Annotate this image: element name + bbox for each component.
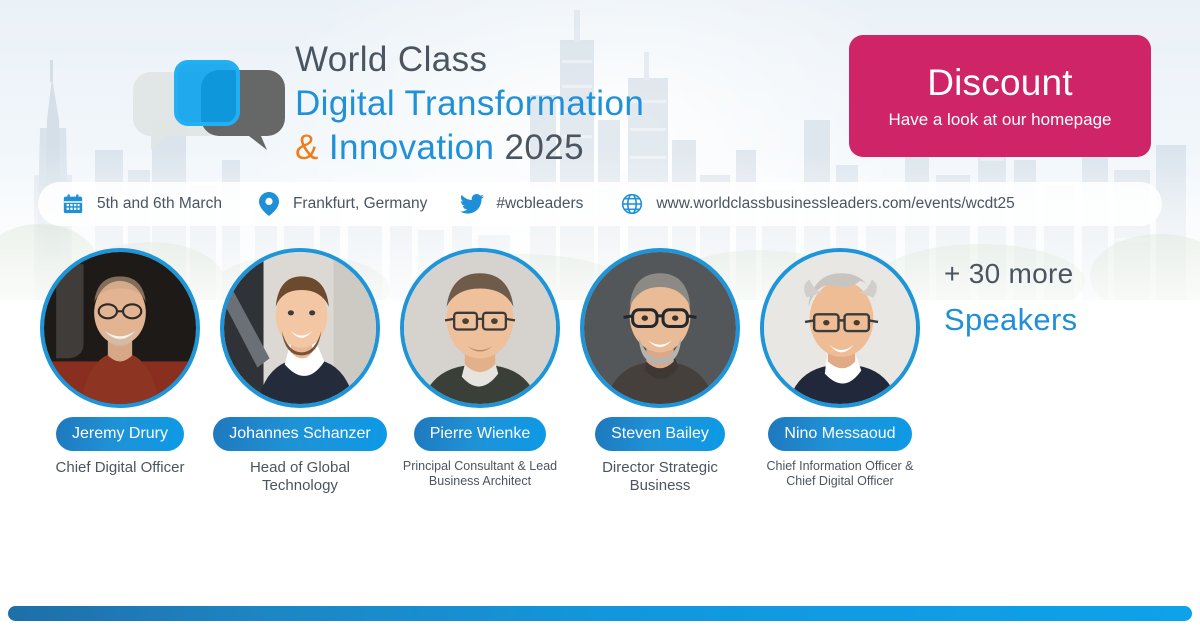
title-year: 2025 [505, 128, 584, 167]
sponsor-logos-row: IKEA GORILLA SPORTS GROUP DEUTSCHLAND [0, 508, 1200, 598]
speaker-photo [580, 248, 740, 408]
info-website-text: www.worldclassbusinessleaders.com/events… [656, 195, 1014, 213]
speaker-role: Chief Digital Officer [56, 459, 185, 477]
speaker-name-badge: Nino Messaoud [768, 417, 911, 451]
speaker-name-badge: Jeremy Drury [56, 417, 184, 451]
speaker-photo [400, 248, 560, 408]
speaker-role: Head of GlobalTechnology [250, 459, 350, 496]
speaker-card[interactable]: Nino Messaoud Chief Information Officer … [750, 248, 930, 496]
speaker-card[interactable]: Johannes Schanzer Head of GlobalTechnolo… [210, 248, 390, 496]
title-ampersand: & [295, 128, 319, 167]
map-pin-icon [256, 191, 282, 217]
info-item-date: 5th and 6th March [60, 182, 222, 226]
speakers-row: Jeremy Drury Chief Digital Officer [30, 248, 930, 496]
title-innovation: Innovation [329, 128, 495, 167]
event-title: World Class Digital Transformation & Inn… [295, 42, 855, 165]
title-line-2: Digital Transformation [295, 86, 855, 121]
more-speakers-count: + 30 more [944, 258, 1077, 290]
event-promo-poster: World Class Digital Transformation & Inn… [0, 0, 1200, 628]
speaker-role: Chief Information Officer &Chief Digital… [766, 459, 913, 489]
speaker-name-badge: Steven Bailey [595, 417, 725, 451]
globe-icon [619, 191, 645, 217]
speaker-card[interactable]: Jeremy Drury Chief Digital Officer [30, 248, 210, 496]
discount-title: Discount [927, 62, 1073, 104]
speaker-role: Director StrategicBusiness [602, 459, 718, 496]
info-date-text: 5th and 6th March [97, 195, 222, 213]
speaker-photo [760, 248, 920, 408]
info-hashtag-text: #wcbleaders [496, 195, 583, 213]
more-speakers-label: Speakers [944, 302, 1077, 338]
info-item-website[interactable]: www.worldclassbusinessleaders.com/events… [619, 182, 1014, 226]
discount-badge[interactable]: Discount Have a look at our homepage [849, 35, 1151, 157]
info-item-hashtag[interactable]: #wcbleaders [459, 182, 583, 226]
speaker-card[interactable]: Steven Bailey Director StrategicBusiness [570, 248, 750, 496]
title-line-3: & Innovation 2025 [295, 130, 855, 165]
title-line-1: World Class [295, 42, 855, 77]
speaker-photo [220, 248, 380, 408]
bottom-accent-bar [8, 606, 1192, 621]
speaker-card[interactable]: Pierre Wienke Principal Consultant & Lea… [390, 248, 570, 496]
calendar-icon [60, 191, 86, 217]
twitter-icon [459, 191, 485, 217]
info-location-text: Frankfurt, Germany [293, 195, 427, 213]
speaker-name-badge: Pierre Wienke [414, 417, 546, 451]
discount-subtitle: Have a look at our homepage [888, 110, 1111, 130]
speaker-name-badge: Johannes Schanzer [213, 417, 386, 451]
blue-square-mark [176, 62, 238, 124]
speaker-photo [40, 248, 200, 408]
info-item-location: Frankfurt, Germany [256, 182, 427, 226]
speaker-role: Principal Consultant & LeadBusiness Arch… [403, 459, 557, 489]
event-info-bar: 5th and 6th March Frankfurt, Germany #wc… [38, 182, 1162, 226]
world-class-business-leaders-logo [133, 56, 293, 156]
more-speakers-block: + 30 more Speakers [944, 258, 1077, 338]
